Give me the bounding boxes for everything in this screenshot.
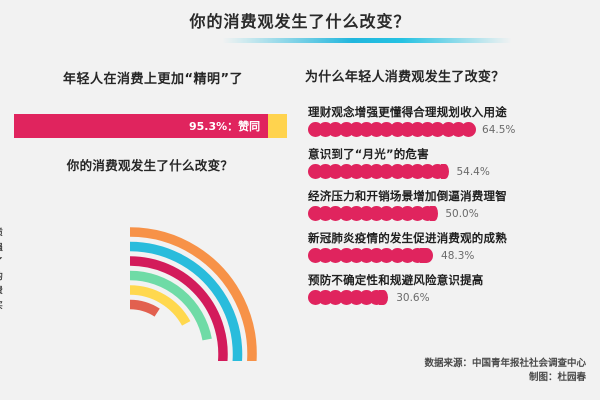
reason-item: 预防不确定性和规避风险意识提高30.6%	[308, 272, 598, 305]
reason-dot	[461, 122, 476, 137]
reason-percent: 48.3%	[441, 250, 474, 262]
reason-percent: 50.0%	[445, 208, 478, 220]
reason-dot-bar	[308, 290, 390, 305]
left-subsection-heading: 你的消费观发生了什么改变？	[10, 155, 290, 174]
reason-dot-bar	[308, 248, 435, 263]
reason-bar-row: 54.4%	[308, 164, 598, 179]
agree-bar-track: 95.3%：赞同	[14, 114, 287, 138]
reason-list: 理财观念增强更懂得合理规划收入用途64.5%意识到了“月光”的危害54.4%经济…	[308, 104, 598, 314]
radial-arc-label: 只买有用的	[0, 270, 3, 282]
reason-dot-partial	[420, 248, 433, 263]
radial-arc	[130, 305, 157, 313]
infographic-canvas: 你的消费观发生了什么改变？ 年轻人在消费上更加“精明”了 95.3%：赞同 你的…	[0, 0, 600, 400]
reason-dot-partial	[430, 206, 437, 221]
radial-arc-label: 攒钱意识变强	[0, 241, 3, 253]
reason-item: 意识到了“月光”的危害54.4%	[308, 146, 598, 179]
reason-dot-bar	[308, 164, 450, 179]
agree-bar-label: 95.3%：赞同	[189, 118, 260, 134]
reason-percent: 64.5%	[482, 124, 515, 136]
reason-item: 理财观念增强更懂得合理规划收入用途64.5%	[308, 104, 598, 137]
credits-author: 制图：杜园春	[424, 371, 586, 386]
radial-arc-label: 有节制有规划地消费	[0, 284, 3, 296]
reason-dot-partial	[441, 164, 449, 179]
reason-bar-row: 50.0%	[308, 206, 598, 221]
reason-label: 新冠肺炎疫情的发生促进消费观的成熟	[308, 230, 598, 246]
reason-label: 理财观念增强更懂得合理规划收入用途	[308, 104, 598, 120]
reason-bar-row: 48.3%	[308, 248, 598, 263]
reason-dot-partial	[379, 290, 388, 305]
reason-label: 意识到了“月光”的危害	[308, 146, 598, 162]
reason-bar-row: 64.5%	[308, 122, 598, 137]
radial-bar-chart: 买好的，更看重产品品质攒钱意识变强冲动消费少了只买有用的有节制有规划地消费不因便…	[18, 186, 290, 361]
reason-label: 预防不确定性和规避风险意识提高	[308, 272, 598, 288]
credits: 数据来源：中国青年报社社会调查中心 制图：杜园春	[424, 357, 586, 386]
reason-item: 经济压力和开销场景增加倒逼消费理智50.0%	[308, 188, 598, 221]
radial-arc-label: 冲动消费少了	[0, 255, 3, 267]
reason-bar-row: 30.6%	[308, 290, 598, 305]
page-title: 你的消费观发生了什么改变？	[0, 8, 600, 32]
left-section-heading: 年轻人在消费上更加“精明”了	[18, 68, 288, 87]
reason-percent: 54.4%	[456, 166, 489, 178]
credits-source: 数据来源：中国青年报社社会调查中心	[424, 357, 586, 372]
reason-dot-bar	[308, 206, 439, 221]
reason-percent: 30.6%	[396, 292, 429, 304]
reason-dot-bar	[308, 122, 476, 137]
reason-label: 经济压力和开销场景增加倒逼消费理智	[308, 188, 598, 204]
radial-chart-svg	[18, 186, 290, 361]
agree-bar-fill: 95.3%：赞同	[14, 114, 268, 138]
reason-item: 新冠肺炎疫情的发生促进消费观的成熟48.3%	[308, 230, 598, 263]
radial-arc-label: 买好的，更看重产品品质	[0, 226, 3, 238]
right-section-heading: 为什么年轻人消费观发生了改变？	[305, 66, 595, 85]
radial-arc-label: 不因便宜就随便买	[0, 299, 3, 311]
title-underline-rule	[222, 38, 512, 43]
